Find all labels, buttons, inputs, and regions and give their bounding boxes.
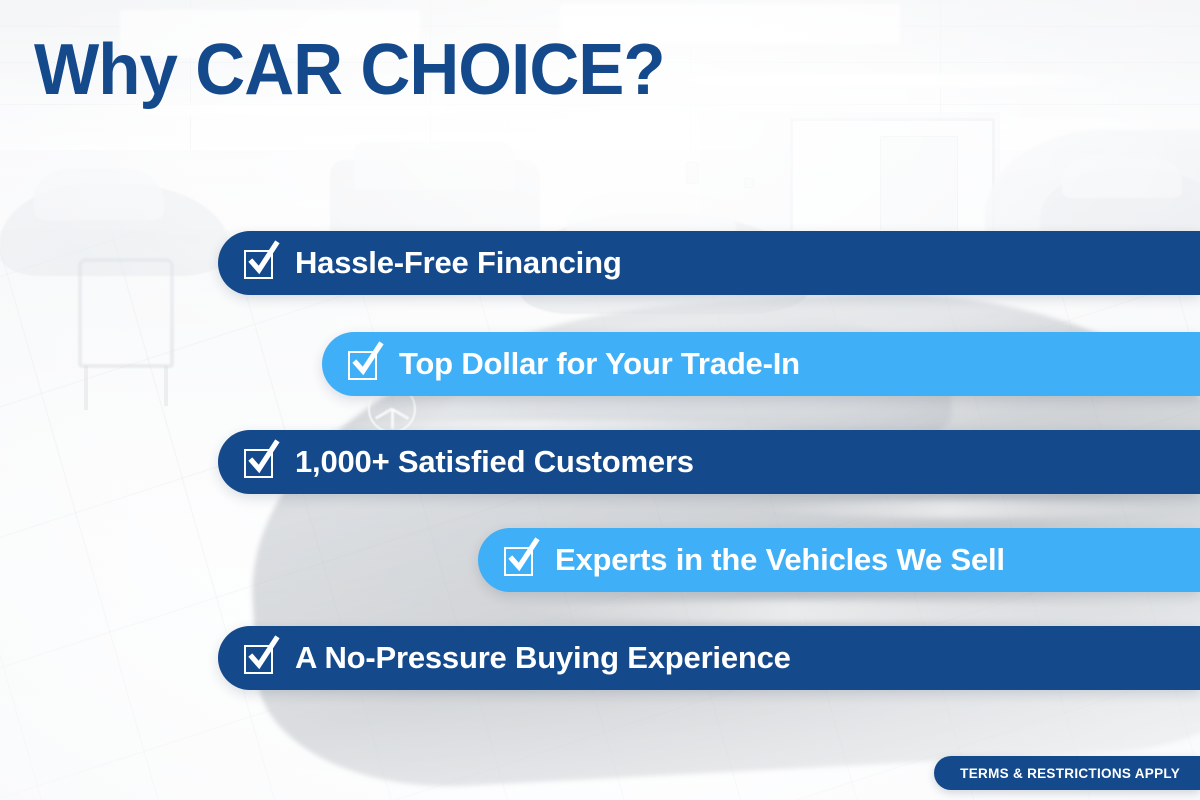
checkbox-checked-icon <box>244 641 278 675</box>
benefit-label: Hassle-Free Financing <box>295 245 622 281</box>
benefit-banner-top-dollar-trade-in[interactable]: Top Dollar for Your Trade-In <box>322 332 1200 396</box>
benefit-label: 1,000+ Satisfied Customers <box>295 444 694 480</box>
benefit-label: Experts in the Vehicles We Sell <box>555 542 1005 578</box>
page-title: Why CAR CHOICE? <box>34 34 665 106</box>
checkbox-checked-icon <box>504 543 538 577</box>
terms-disclaimer-badge[interactable]: TERMS & RESTRICTIONS APPLY <box>934 756 1200 790</box>
benefit-banner-experts-in-vehicles[interactable]: Experts in the Vehicles We Sell <box>478 528 1200 592</box>
terms-disclaimer-text: TERMS & RESTRICTIONS APPLY <box>960 766 1180 781</box>
checkbox-checked-icon <box>244 445 278 479</box>
checkbox-checked-icon <box>348 347 382 381</box>
benefit-banner-hassle-free-financing[interactable]: Hassle-Free Financing <box>218 231 1200 295</box>
benefit-label: A No-Pressure Buying Experience <box>295 640 791 676</box>
promo-poster: Why CAR CHOICE? Hassle-Free Financing To… <box>0 0 1200 800</box>
benefit-banner-no-pressure-buying[interactable]: A No-Pressure Buying Experience <box>218 626 1200 690</box>
benefit-label: Top Dollar for Your Trade-In <box>399 346 800 382</box>
checkbox-checked-icon <box>244 246 278 280</box>
benefit-banner-satisfied-customers[interactable]: 1,000+ Satisfied Customers <box>218 430 1200 494</box>
